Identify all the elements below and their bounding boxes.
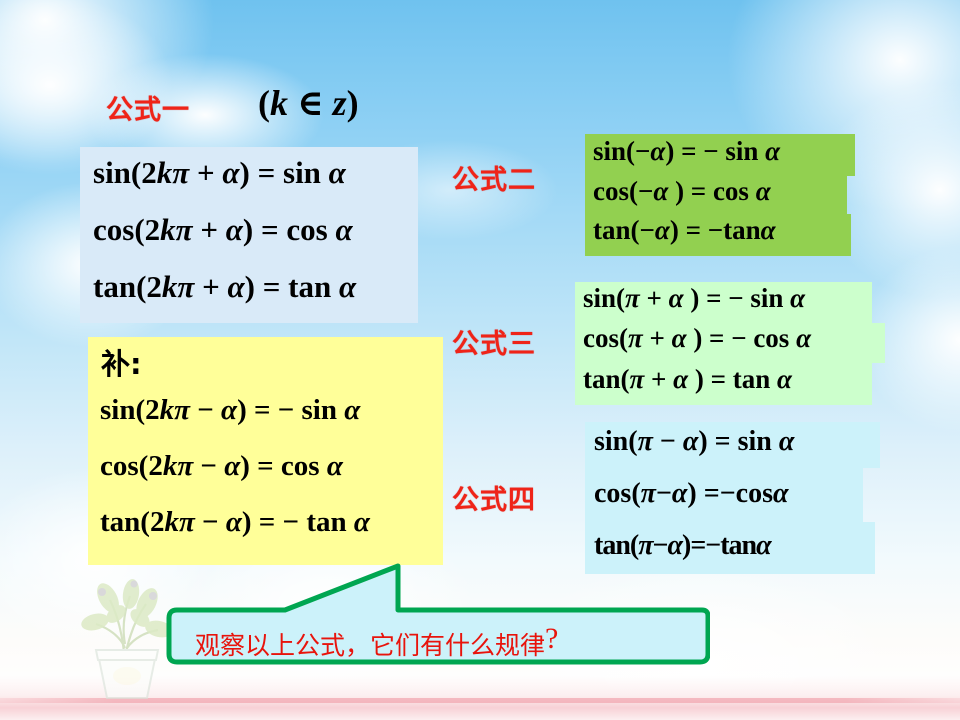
condition-k-in-z: (k ∈ z) — [258, 82, 359, 124]
label-formula-one: 公式一 — [106, 88, 190, 127]
formula-two-line-tan: tan(−α) = −tanα — [593, 215, 776, 246]
callout-question-text: 观察以上公式，它们有什么规律? — [195, 622, 558, 662]
formula-one-line-sin: sin(2kπ + α) = sin α — [93, 155, 346, 191]
supplement-title: 补: — [101, 341, 142, 383]
formula-four-line-sin: sin(π − α) = sin α — [594, 426, 794, 458]
formula-three-line-cos: cos(π + α ) = − cos α — [583, 323, 811, 354]
formula-two-line-cos: cos(−α ) = cos α — [593, 176, 771, 207]
supplement-line-cos: cos(2kπ − α) = cos α — [100, 450, 343, 483]
formula-one-line-tan: tan(2kπ + α) = tan α — [93, 269, 356, 305]
formula-three-line-tan: tan(π + α ) = tan α — [583, 364, 792, 395]
slide-canvas: 公式一 (k ∈ z) sin(2kπ + α) = sin α cos(2kπ… — [0, 0, 960, 720]
supplement-line-sin: sin(2kπ − α) = − sin α — [100, 394, 360, 427]
label-formula-two: 公式二 — [452, 158, 536, 197]
question-callout: 观察以上公式，它们有什么规律? — [165, 556, 710, 668]
supplement-line-tan: tan(2kπ − α) = − tan α — [100, 506, 370, 539]
label-formula-four: 公式四 — [452, 478, 536, 517]
formula-four-line-cos: cos(π−α) =−cosα — [594, 478, 788, 510]
formula-two-line-sin: sin(−α) = − sin α — [593, 136, 780, 167]
formula-one-line-cos: cos(2kπ + α) = cos α — [93, 212, 353, 248]
label-formula-three: 公式三 — [452, 322, 536, 361]
formula-one-box: sin(2kπ + α) = sin α cos(2kπ + α) = cos … — [80, 147, 418, 323]
supplement-box: 补: sin(2kπ − α) = − sin α cos(2kπ − α) =… — [88, 337, 443, 565]
formula-three-line-sin: sin(π + α ) = − sin α — [583, 283, 805, 314]
